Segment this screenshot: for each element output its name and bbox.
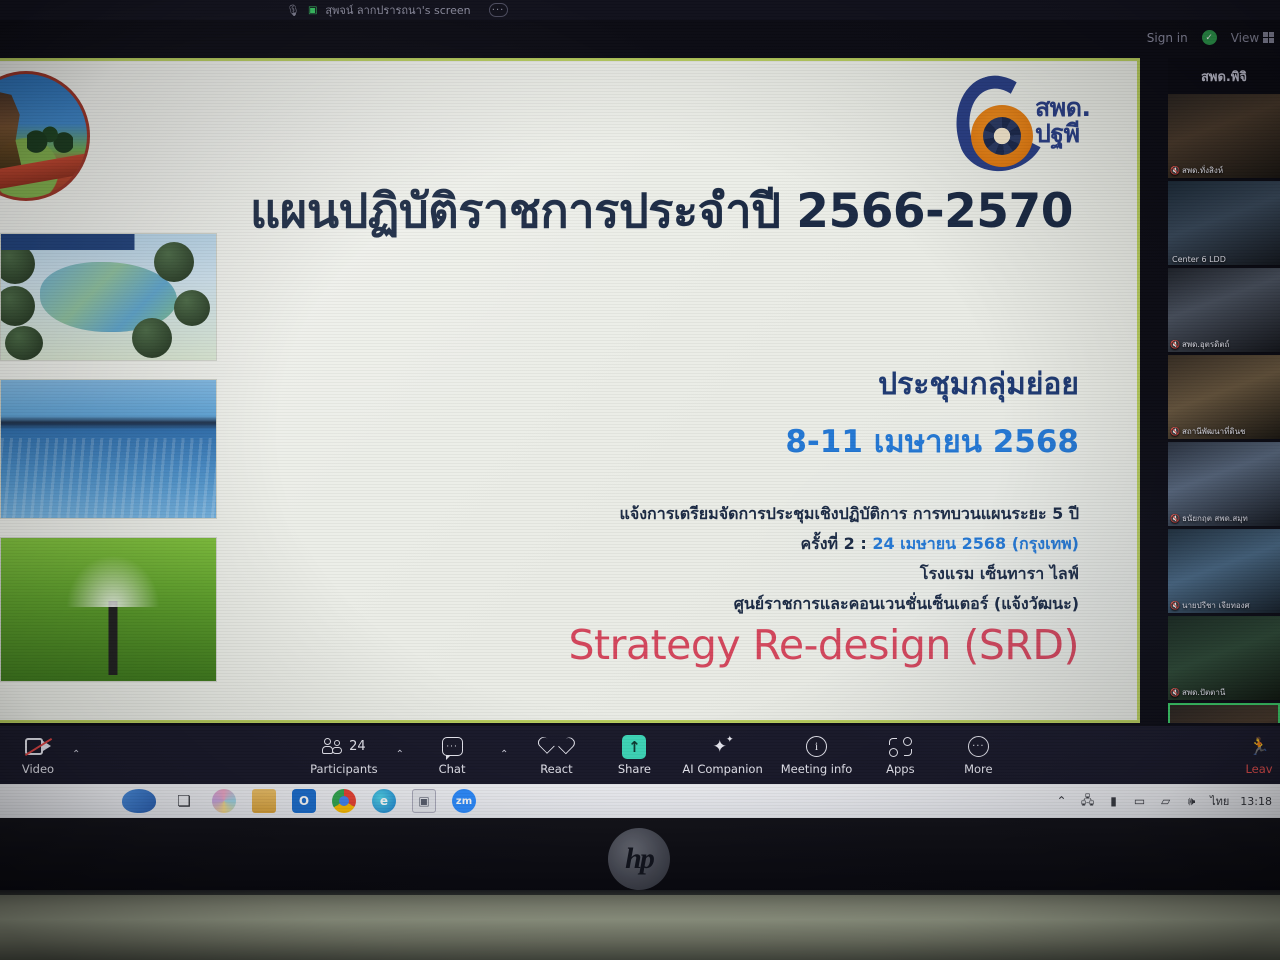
slide-image-flooded-field [0,379,217,519]
apps-icon [889,735,912,759]
video-button[interactable]: Video [8,726,68,784]
participant-thumbnail[interactable]: 🔇สพด.อุตรดิตถ์ [1168,268,1280,352]
ldd-logo: สพด. ปฐพี [947,73,1115,173]
taskbar-task-view-icon[interactable]: ❏ [172,789,196,813]
slide-srd-heading: Strategy Re-design (SRD) [569,621,1080,669]
slide-body-text: แจ้งการเตรียมจัดการประชุมเชิงปฏิบัติการ … [439,499,1079,619]
government-seal-icon [0,71,90,201]
taskbar-zoom-icon[interactable]: zm [452,789,476,813]
view-label: View [1231,31,1259,45]
apps-button[interactable]: Apps [870,726,930,784]
participant-thumbnail[interactable]: 🔇นายปรีชา เจียทองศ [1168,529,1280,613]
meeting-info-button[interactable]: i Meeting info [781,726,853,784]
view-grid-icon [1263,32,1274,43]
leave-label: Leav [1245,762,1272,776]
slide-title: แผนปฏิบัติราชการประจำปี 2566-2570 [250,185,1110,239]
share-more-icon[interactable]: ··· [489,3,508,17]
chat-icon: ··· [442,735,463,759]
participants-icon: 24 [322,735,366,759]
laptop-base [0,895,1280,960]
slide-body-line2-prefix: ครั้งที่ 2 : [800,534,872,553]
slide-body-line4: ศูนย์ราชการและคอนเวนชั่นเซ็นเตอร์ (แจ้งว… [439,589,1079,619]
tray-volume-icon[interactable]: 🕪 [1184,794,1199,809]
mute-icon: 🔇 [1170,514,1180,523]
ai-companion-label: AI Companion [682,762,762,776]
participant-name: นายปรีชา เจียทองศ [1182,599,1250,612]
hp-brand-logo: hp [608,828,670,890]
taskbar-file-explorer-icon[interactable] [252,789,276,813]
mic-icon: 🎙 [286,4,300,17]
slide-subtitle-meeting: ประชุมกลุ่มย่อย [878,361,1079,408]
presentation-slide: สพด. ปฐพี แผนปฏิบั [0,61,1137,720]
participant-thumbnail[interactable]: 🔇ธนัยกฤต สพด.สมุท [1168,442,1280,526]
video-off-icon [25,735,51,759]
participant-name: สถานีพัฒนาที่ดินช [1182,425,1246,438]
meeting-info-label: Meeting info [781,762,853,776]
participants-caret-icon[interactable]: ⌃ [396,749,404,760]
chat-label: Chat [439,762,466,776]
tray-network-icon[interactable]: 🖧 [1080,794,1095,809]
mute-icon: 🔇 [1170,166,1180,175]
participant-thumbnail[interactable]: 🔇สพด.ทั่งสิงห์ [1168,94,1280,178]
info-icon: i [806,735,827,759]
tray-chevron-icon[interactable]: ⌃ [1054,794,1069,809]
ldd-logo-line2: ปฐพี [1035,121,1113,147]
slide-image-sprinkler [0,537,217,682]
slide-image-land-development [0,233,217,361]
participants-count: 24 [349,739,366,754]
video-label: Video [22,762,54,776]
chat-button[interactable]: ··· Chat [422,726,482,784]
leave-button[interactable]: 🏃 Leav [1238,726,1280,784]
participant-thumbnail-active-speaker[interactable]: สพด.นครศรีอ 🔇สพด.นครศรีธรรมรา [1168,703,1280,723]
mute-icon: 🔇 [1170,688,1180,697]
share-screen-icon: ↑ [622,735,646,759]
windows-taskbar: ❏ O e ▣ zm ⌃ 🖧 ▮ ▭ ▱ 🕪 ไทย 13:18 [0,784,1280,818]
apps-label: Apps [886,762,914,776]
more-icon: ··· [968,735,989,759]
tray-language-indicator[interactable]: ไทย [1210,792,1229,810]
participant-rail[interactable]: สพด.พิจิ 🔇สพด.ทั่งสิงห์ Center 6 LDD 🔇สพ… [1168,58,1280,723]
video-options-caret-icon[interactable]: ⌃ [72,749,80,760]
participants-label: Participants [310,762,378,776]
heart-react-icon [547,735,566,759]
encryption-shield-icon[interactable]: ✓ [1202,30,1217,45]
chat-caret-icon[interactable]: ⌃ [500,749,508,760]
shared-slide-region[interactable]: สพด. ปฐพี แผนปฏิบั [0,58,1140,723]
taskbar-edge-icon[interactable]: e [372,789,396,813]
sparkle-icon: ✦ ✦ [711,735,735,759]
participant-thumbnail[interactable]: Center 6 LDD [1168,181,1280,265]
tray-battery-icon[interactable]: ▮ [1106,794,1121,809]
screen-share-bar: 🎙 ▣ สุพจน์ ลากปรารถนา's screen ··· [0,0,1280,20]
participants-button[interactable]: 24 Participants [310,726,378,784]
mute-icon: 🔇 [1170,601,1180,610]
slide-body-line3: โรงแรม เซ็นทารา ไลฟ์ [439,559,1079,589]
view-button[interactable]: View [1231,31,1274,45]
participant-name: Center 6 LDD [1172,255,1226,264]
rail-header-label: สพด.พิจิ [1168,58,1280,94]
mute-icon: 🔇 [1170,340,1180,349]
zoom-meeting-window: 🎙 ▣ สุพจน์ ลากปรารถนา's screen ··· Sign … [0,0,1280,818]
sign-in-button[interactable]: Sign in [1147,31,1188,45]
ai-companion-button[interactable]: ✦ ✦ AI Companion [682,726,762,784]
ldd-logo-line1: สพด. [1035,95,1113,121]
more-button[interactable]: ··· More [948,726,1008,784]
participant-name: ธนัยกฤต สพด.สมุท [1182,512,1248,525]
zoom-toolbar: Video ⌃ 24 Participants ⌃ ··· [0,726,1280,784]
taskbar-camera-icon[interactable]: ▣ [412,789,436,813]
slide-body-line1: แจ้งการเตรียมจัดการประชุมเชิงปฏิบัติการ … [439,499,1079,529]
share-status-icon: ▣ [308,5,317,16]
slide-subtitle-dates: 8-11 เมษายน 2568 [785,416,1079,466]
taskbar-chrome-icon[interactable] [332,789,356,813]
taskbar-teams-icon[interactable] [122,789,156,813]
slide-body-line2-date: 24 เมษายน 2568 (กรุงเทพ) [872,534,1079,553]
slide-image-strip [0,233,217,700]
more-label: More [964,762,993,776]
tray-display-icon[interactable]: ▭ [1132,794,1147,809]
laptop-photo-stage: 🎙 ▣ สุพจน์ ลากปรารถนา's screen ··· Sign … [0,0,1280,960]
participant-thumbnail[interactable]: 🔇สพด.ปัตตานี [1168,616,1280,700]
participant-name: สพด.ทั่งสิงห์ [1182,164,1223,177]
share-label: Share [618,762,651,776]
participant-name: สพด.อุตรดิตถ์ [1182,338,1229,351]
taskbar-photos-icon[interactable] [212,789,236,813]
system-tray: ⌃ 🖧 ▮ ▭ ▱ 🕪 ไทย 13:18 [1054,792,1280,810]
top-right-controls: Sign in ✓ View [1147,30,1274,45]
mute-icon: 🔇 [1170,427,1180,436]
react-button[interactable]: React [526,726,586,784]
tray-display-alt-icon[interactable]: ▱ [1158,794,1173,809]
react-label: React [540,762,572,776]
leave-icon: 🏃 [1250,735,1268,759]
tray-clock[interactable]: 13:18 [1240,795,1272,808]
taskbar-outlook-icon[interactable]: O [292,789,316,813]
participant-name: สพด.ปัตตานี [1182,686,1225,699]
slide-body-line2: ครั้งที่ 2 : 24 เมษายน 2568 (กรุงเทพ) [439,529,1079,559]
share-button[interactable]: ↑ Share [604,726,664,784]
presenter-label: สุพจน์ ลากปรารถนา's screen [325,1,470,19]
participant-thumbnail[interactable]: 🔇สถานีพัฒนาที่ดินช [1168,355,1280,439]
